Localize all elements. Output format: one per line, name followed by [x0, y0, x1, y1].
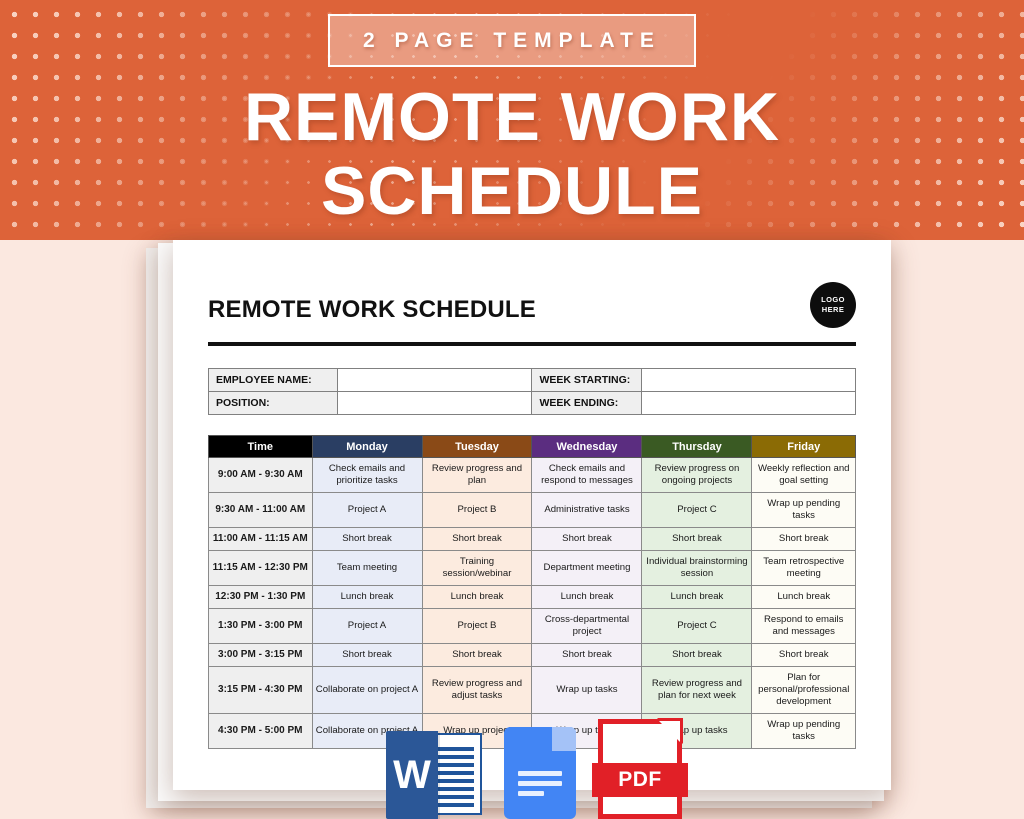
schedule-cell-thursday[interactable]: Lunch break	[642, 586, 752, 609]
schedule-header-monday: Monday	[312, 436, 422, 458]
schedule-document-page[interactable]: REMOTE WORK SCHEDULE LOGO HERE EMPLOYEE …	[173, 240, 891, 790]
schedule-table-body: 9:00 AM - 9:30 AMCheck emails and priori…	[209, 458, 856, 749]
schedule-cell-tuesday[interactable]: Review progress and plan	[422, 458, 532, 493]
schedule-cell-friday[interactable]: Wrap up pending tasks	[752, 493, 856, 528]
week-ending-field[interactable]	[642, 392, 856, 415]
schedule-cell-monday[interactable]: Project A	[312, 493, 422, 528]
schedule-cell-tuesday[interactable]: Project B	[422, 493, 532, 528]
template-page-count-badge: 2 PAGE TEMPLATE	[328, 14, 696, 67]
schedule-time-cell: 12:30 PM - 1:30 PM	[209, 586, 313, 609]
schedule-cell-wednesday[interactable]: Short break	[532, 528, 642, 551]
logo-line-1: LOGO	[821, 295, 845, 305]
hero-banner: 2 PAGE TEMPLATE REMOTE WORK SCHEDULE	[0, 0, 1024, 240]
schedule-cell-thursday[interactable]: Review progress and plan for next week	[642, 667, 752, 714]
schedule-time-cell: 9:00 AM - 9:30 AM	[209, 458, 313, 493]
info-row: EMPLOYEE NAME: WEEK STARTING:	[209, 369, 856, 392]
employee-name-label: EMPLOYEE NAME:	[209, 369, 338, 392]
schedule-cell-wednesday[interactable]: Lunch break	[532, 586, 642, 609]
position-label: POSITION:	[209, 392, 338, 415]
hero-title-line-1: REMOTE WORK	[0, 80, 1024, 154]
info-row: POSITION: WEEK ENDING:	[209, 392, 856, 415]
week-starting-label: WEEK STARTING:	[532, 369, 642, 392]
schedule-cell-friday[interactable]: Short break	[752, 644, 856, 667]
schedule-row: 3:15 PM - 4:30 PMCollaborate on project …	[209, 667, 856, 714]
schedule-cell-thursday[interactable]: Individual brainstorming session	[642, 551, 752, 586]
schedule-cell-monday[interactable]: Collaborate on project A	[312, 667, 422, 714]
schedule-cell-tuesday[interactable]: Review progress and adjust tasks	[422, 667, 532, 714]
schedule-cell-tuesday[interactable]: Short break	[422, 644, 532, 667]
schedule-cell-monday[interactable]: Team meeting	[312, 551, 422, 586]
schedule-cell-wednesday[interactable]: Wrap up tasks	[532, 667, 642, 714]
schedule-cell-friday[interactable]: Respond to emails and messages	[752, 609, 856, 644]
schedule-row: 12:30 PM - 1:30 PMLunch breakLunch break…	[209, 586, 856, 609]
schedule-cell-friday[interactable]: Weekly reflection and goal setting	[752, 458, 856, 493]
schedule-header-tuesday: Tuesday	[422, 436, 532, 458]
schedule-header-friday: Friday	[752, 436, 856, 458]
schedule-cell-friday[interactable]: Lunch break	[752, 586, 856, 609]
schedule-cell-friday[interactable]: Short break	[752, 528, 856, 551]
document-title: REMOTE WORK SCHEDULE	[208, 282, 536, 324]
pdf-corner-fold-inner	[659, 721, 680, 742]
schedule-row: 1:30 PM - 3:00 PMProject AProject BCross…	[209, 609, 856, 644]
schedule-cell-thursday[interactable]: Short break	[642, 644, 752, 667]
logo-line-2: HERE	[822, 305, 844, 315]
hero-title: REMOTE WORK SCHEDULE	[0, 80, 1024, 228]
schedule-cell-friday[interactable]: Wrap up pending tasks	[752, 714, 856, 749]
hero-title-line-2: SCHEDULE	[0, 154, 1024, 228]
schedule-time-cell: 11:15 AM - 12:30 PM	[209, 551, 313, 586]
schedule-cell-wednesday[interactable]: Short break	[532, 644, 642, 667]
google-docs-file-icon	[504, 727, 576, 819]
schedule-cell-thursday[interactable]: Short break	[642, 528, 752, 551]
schedule-header-thursday: Thursday	[642, 436, 752, 458]
schedule-cell-thursday[interactable]: Review progress on ongoing projects	[642, 458, 752, 493]
schedule-cell-tuesday[interactable]: Lunch break	[422, 586, 532, 609]
position-field[interactable]	[338, 392, 532, 415]
schedule-row: 11:15 AM - 12:30 PMTeam meetingTraining …	[209, 551, 856, 586]
employee-info-table: EMPLOYEE NAME: WEEK STARTING: POSITION: …	[208, 368, 856, 415]
schedule-cell-wednesday[interactable]: Cross-departmental project	[532, 609, 642, 644]
schedule-header-row: TimeMondayTuesdayWednesdayThursdayFriday	[209, 436, 856, 458]
template-preview-canvas: 2 PAGE TEMPLATE REMOTE WORK SCHEDULE REM…	[0, 0, 1024, 819]
employee-info-body: EMPLOYEE NAME: WEEK STARTING: POSITION: …	[209, 369, 856, 415]
schedule-table-head: TimeMondayTuesdayWednesdayThursdayFriday	[209, 436, 856, 458]
week-starting-field[interactable]	[642, 369, 856, 392]
schedule-time-cell: 9:30 AM - 11:00 AM	[209, 493, 313, 528]
schedule-cell-wednesday[interactable]: Check emails and respond to messages	[532, 458, 642, 493]
schedule-cell-wednesday[interactable]: Administrative tasks	[532, 493, 642, 528]
employee-name-field[interactable]	[338, 369, 532, 392]
schedule-header-time: Time	[209, 436, 313, 458]
schedule-cell-monday[interactable]: Project A	[312, 609, 422, 644]
pdf-file-icon: PDF	[598, 719, 682, 819]
week-ending-label: WEEK ENDING:	[532, 392, 642, 415]
schedule-cell-thursday[interactable]: Project C	[642, 609, 752, 644]
title-divider-rule	[208, 342, 856, 346]
pdf-label: PDF	[592, 763, 688, 797]
schedule-row: 9:00 AM - 9:30 AMCheck emails and priori…	[209, 458, 856, 493]
schedule-cell-tuesday[interactable]: Training session/webinar	[422, 551, 532, 586]
schedule-cell-monday[interactable]: Short break	[312, 528, 422, 551]
schedule-row: 11:00 AM - 11:15 AMShort breakShort brea…	[209, 528, 856, 551]
logo-placeholder-badge: LOGO HERE	[810, 282, 856, 328]
weekly-schedule-table: TimeMondayTuesdayWednesdayThursdayFriday…	[208, 435, 856, 749]
schedule-cell-wednesday[interactable]: Department meeting	[532, 551, 642, 586]
schedule-cell-friday[interactable]: Team retrospective meeting	[752, 551, 856, 586]
schedule-header-wednesday: Wednesday	[532, 436, 642, 458]
schedule-cell-tuesday[interactable]: Short break	[422, 528, 532, 551]
document-header: REMOTE WORK SCHEDULE LOGO HERE	[208, 282, 856, 328]
schedule-cell-thursday[interactable]: Project C	[642, 493, 752, 528]
schedule-row: 3:00 PM - 3:15 PMShort breakShort breakS…	[209, 644, 856, 667]
badge-label: 2 PAGE TEMPLATE	[363, 29, 661, 53]
word-logo-letter: W	[386, 731, 438, 819]
schedule-time-cell: 11:00 AM - 11:15 AM	[209, 528, 313, 551]
schedule-cell-monday[interactable]: Short break	[312, 644, 422, 667]
schedule-cell-tuesday[interactable]: Project B	[422, 609, 532, 644]
file-format-icons: W PDF	[386, 709, 716, 819]
schedule-cell-monday[interactable]: Check emails and prioritize tasks	[312, 458, 422, 493]
schedule-cell-monday[interactable]: Lunch break	[312, 586, 422, 609]
schedule-time-cell: 3:15 PM - 4:30 PM	[209, 667, 313, 714]
schedule-row: 9:30 AM - 11:00 AMProject AProject BAdmi…	[209, 493, 856, 528]
schedule-time-cell: 1:30 PM - 3:00 PM	[209, 609, 313, 644]
schedule-time-cell: 4:30 PM - 5:00 PM	[209, 714, 313, 749]
gdoc-text-lines	[518, 771, 562, 801]
word-file-icon: W	[386, 731, 482, 819]
schedule-cell-friday[interactable]: Plan for personal/professional developme…	[752, 667, 856, 714]
schedule-time-cell: 3:00 PM - 3:15 PM	[209, 644, 313, 667]
gdoc-corner-fold	[552, 727, 576, 751]
